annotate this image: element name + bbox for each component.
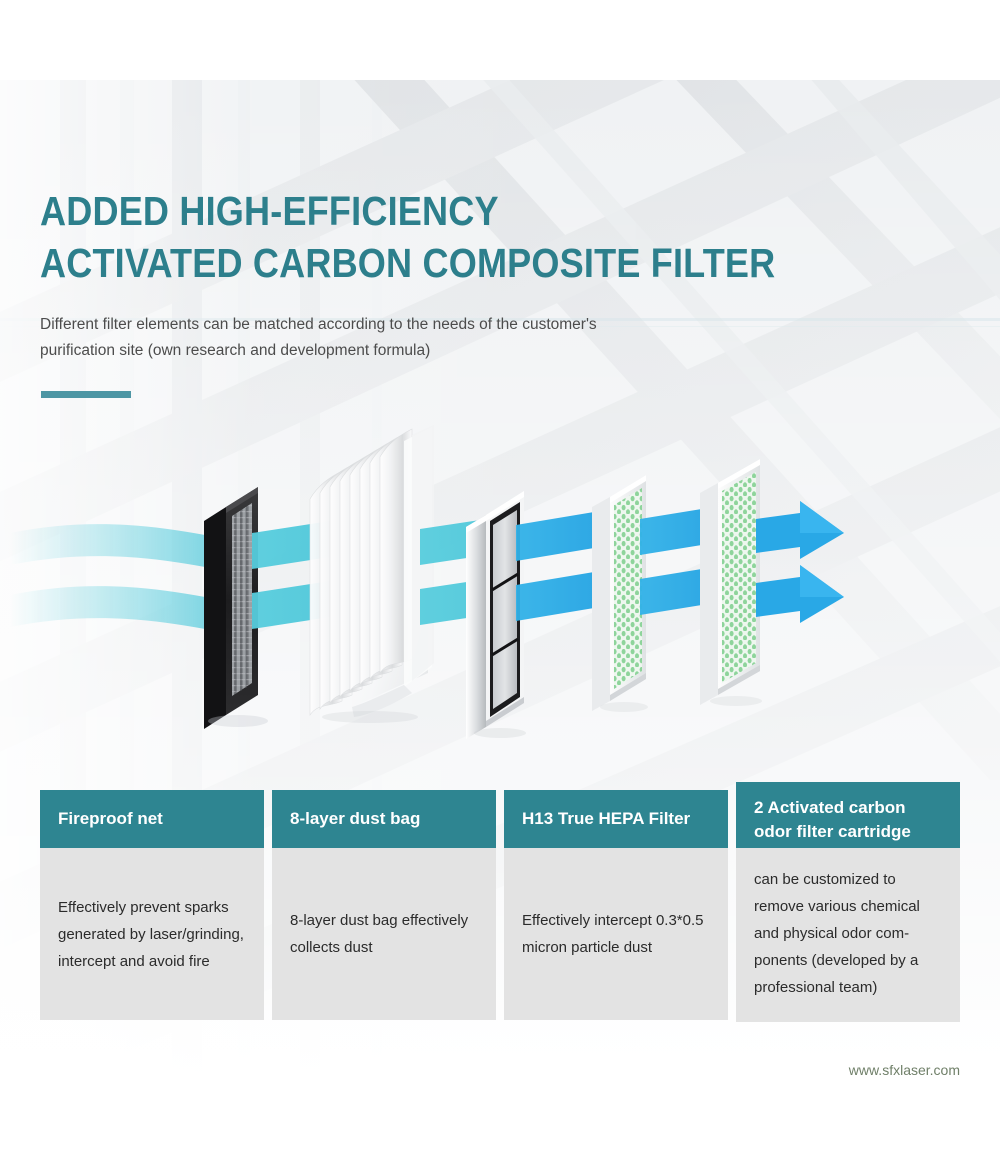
airflow-outlet-arrows	[756, 501, 844, 623]
card-body-dust-bag: 8-layer dust bag effectively collects du…	[272, 848, 496, 1020]
accent-bar	[41, 391, 131, 398]
feature-card-carbon-cartridge: 2 Activated carbon odor filter cartridge…	[736, 782, 960, 1022]
feature-card-fireproof-net: Fireproof net Effectively prevent sparks…	[40, 790, 264, 1020]
feature-card-hepa-filter: H13 True HEPA Filter Effectively interce…	[504, 790, 728, 1020]
card-body-hepa-filter: Effectively intercept 0.3*0.5 micron par…	[504, 848, 728, 1020]
card-title-hepa-filter: H13 True HEPA Filter	[504, 790, 728, 848]
airflow-inlet	[10, 524, 205, 629]
dust-bag-pleats	[310, 425, 434, 723]
background-bottom-fade	[0, 1010, 1000, 1167]
card-title-dust-bag: 8-layer dust bag	[272, 790, 496, 848]
filter-stack-illustration	[0, 415, 1000, 755]
card-title-carbon-cartridge: 2 Activated carbon odor filter cartridge	[736, 782, 960, 848]
airflow-band-3	[516, 511, 600, 621]
footer-website-url[interactable]: www.sfxlaser.com	[849, 1062, 960, 1078]
feature-card-dust-bag: 8-layer dust bag 8-layer dust bag effect…	[272, 790, 496, 1020]
card-body-fireproof-net: Effectively prevent sparks generated by …	[40, 848, 264, 1020]
page-subtitle: Different filter elements can be matched…	[40, 312, 680, 364]
top-white-band	[0, 0, 1000, 80]
carbon-panel-front	[592, 475, 648, 712]
card-body-carbon-cartridge: can be customized to remove various chem…	[736, 848, 960, 1022]
feature-cards: Fireproof net Effectively prevent sparks…	[40, 782, 960, 1022]
carbon-panel-back	[700, 459, 762, 706]
card-title-fireproof-net: Fireproof net	[40, 790, 264, 848]
poster-page: ADDED HIGH-EFFICIENCY ACTIVATED CARBON C…	[0, 0, 1000, 1167]
page-title: ADDED HIGH-EFFICIENCY ACTIVATED CARBON C…	[40, 185, 814, 289]
